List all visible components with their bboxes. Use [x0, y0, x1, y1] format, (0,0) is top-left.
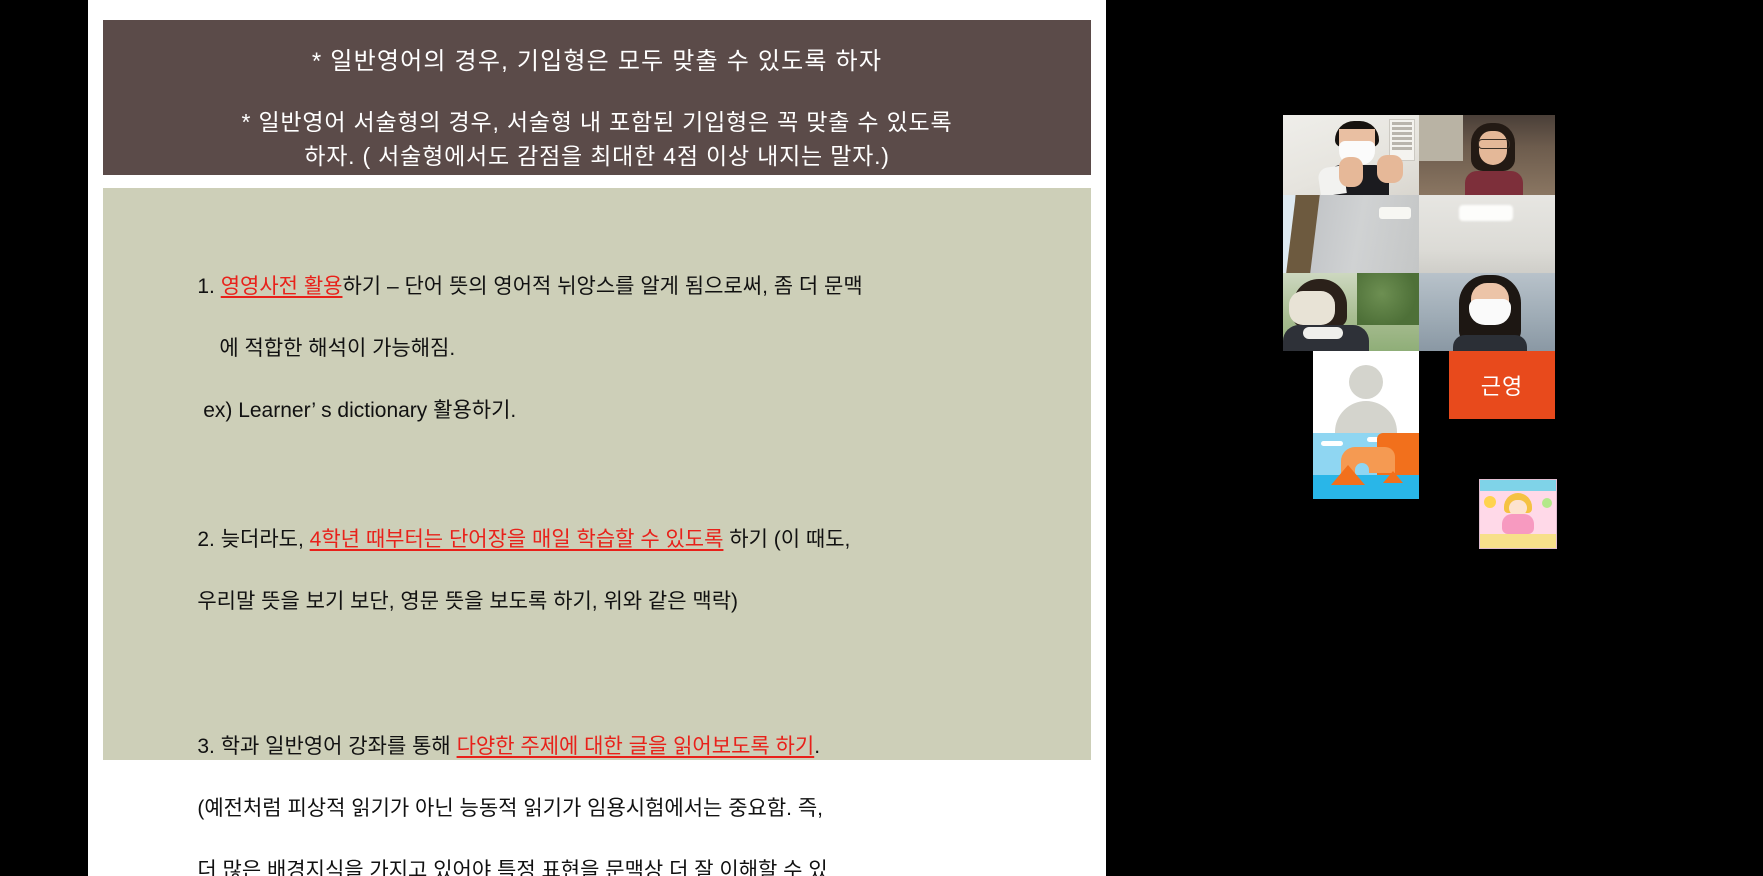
- person-body: [1465, 171, 1523, 195]
- slide-list-item-1: 1. 영영사전 활용하기 – 단어 뜻의 영어적 뉘앙스를 알게 됨으로써, 좀…: [139, 240, 1061, 457]
- slide-list-item-3: 3. 학과 일반영어 강좌를 통해 다양한 주제에 대한 글을 읽어보도록 하기…: [139, 700, 1061, 876]
- item-3-highlight: 다양한 주제에 대한 글을 읽어보도록 하기: [457, 735, 815, 758]
- participant-tile-video[interactable]: [1283, 195, 1419, 273]
- slide-title-line-3: 하자. ( 서술형에서도 감점을 최대한 4점 이상 내지는 말자.): [113, 140, 1081, 172]
- participant-video-rail: 근영: [1106, 0, 1763, 876]
- cloud-shape: [1321, 441, 1343, 446]
- spacer-2: [139, 648, 1061, 700]
- item-3-number: 3.: [197, 735, 215, 758]
- ceiling-light: [1459, 205, 1513, 221]
- item-3-line2: (예전처럼 피상적 읽기가 아닌 능동적 읽기가 임용시험에서는 중요함. 즉,: [197, 797, 823, 820]
- item-1-line3: ex) Learner’ s dictionary 활용하기.: [197, 399, 516, 422]
- item-2-highlight: 4학년 때부터는 단어장을 매일 학습할 수 있도록: [310, 528, 724, 551]
- participant-name-label: 근영: [1481, 369, 1523, 401]
- presentation-slide: * 일반영어의 경우, 기입형은 모두 맞출 수 있도록 하자 * 일반영어 서…: [103, 20, 1091, 860]
- slide-body-panel: 1. 영영사전 활용하기 – 단어 뜻의 영어적 뉘앙스를 알게 됨으로써, 좀…: [103, 188, 1091, 760]
- item-2-line2: 우리말 뜻을 보기 보단, 영문 뜻을 보도록 하기, 위와 같은 맥락): [197, 590, 738, 613]
- person-body: [1453, 335, 1527, 351]
- face-mask: [1469, 299, 1511, 325]
- thumbnail-ground: [1480, 534, 1556, 548]
- spacer-1: [139, 457, 1061, 493]
- slide-list-item-2: 2. 늦더라도, 4학년 때부터는 단어장을 매일 학습할 수 있도록 하기 (…: [139, 493, 1061, 648]
- item-1-number: 1.: [197, 275, 215, 298]
- decoration-circle: [1484, 496, 1496, 508]
- item-2-line1-pre: 늦더라도,: [215, 528, 310, 551]
- item-3-line3: 더 많은 배경지식을 가지고 있어야 특정 표현을 문맥상 더 잘 이해할 수 …: [197, 859, 827, 876]
- item-2-number: 2.: [197, 528, 215, 551]
- person-hand-left: [1339, 157, 1363, 187]
- participant-tile-name-only[interactable]: 근영: [1449, 351, 1555, 419]
- thumbnail-image: [1479, 479, 1557, 549]
- participant-tile-video[interactable]: [1419, 195, 1555, 273]
- participant-tile-thumbnail[interactable]: [1449, 467, 1587, 559]
- window-light: [1419, 115, 1463, 161]
- item-3-line1-post: .: [814, 735, 820, 758]
- virtual-background-sea: [1313, 475, 1419, 499]
- thumbnail-banner: [1480, 480, 1556, 491]
- item-1-line2: 에 적합한 해석이 가능해짐.: [197, 337, 455, 360]
- participant-tile-video[interactable]: [1283, 273, 1419, 351]
- person-hand-right: [1377, 155, 1403, 183]
- participant-tile-video[interactable]: [1419, 273, 1555, 351]
- ceiling-light: [1379, 207, 1411, 219]
- character-body: [1502, 514, 1534, 534]
- participant-tile-avatar[interactable]: [1313, 351, 1419, 499]
- participant-tile-video[interactable]: [1283, 115, 1419, 195]
- slide-title-line-1: * 일반영어의 경우, 기입형은 모두 맞출 수 있도록 하자: [113, 46, 1081, 78]
- avatar-head-icon: [1349, 365, 1383, 399]
- item-2-line1-post: 하기 (이 때도,: [723, 528, 850, 551]
- item-1-line1-post: 하기 – 단어 뜻의 영어적 뉘앙스를 알게 됨으로써, 좀 더 문맥: [342, 275, 862, 298]
- decoration-circle: [1542, 498, 1552, 508]
- slide-title-banner: * 일반영어의 경우, 기입형은 모두 맞출 수 있도록 하자 * 일반영어 서…: [103, 20, 1091, 175]
- participant-tile-video[interactable]: [1419, 115, 1555, 195]
- item-3-line1-pre: 학과 일반영어 강좌를 통해: [215, 735, 457, 758]
- slide-title-line-2: * 일반영어 서술형의 경우, 서술형 내 포함된 기입형은 꼭 맞출 수 있도…: [113, 106, 1081, 138]
- item-1-highlight: 영영사전 활용: [221, 275, 343, 298]
- glasses-icon: [1478, 139, 1510, 149]
- shared-screen-area: * 일반영어의 경우, 기입형은 모두 맞출 수 있도록 하자 * 일반영어 서…: [88, 0, 1106, 876]
- screen-root: * 일반영어의 경우, 기입형은 모두 맞출 수 있도록 하자 * 일반영어 서…: [0, 0, 1763, 876]
- tree-foliage: [1357, 273, 1419, 325]
- face-mask: [1289, 291, 1335, 325]
- person-collar: [1303, 327, 1343, 339]
